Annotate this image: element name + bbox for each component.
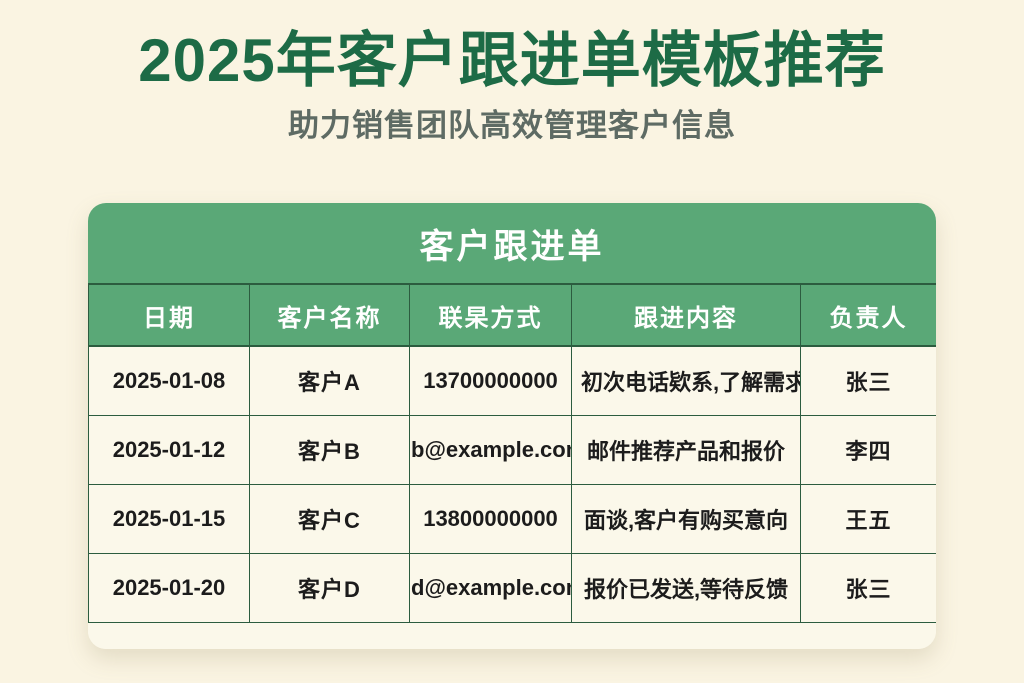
page-title: 2025年客户跟进单模板推荐 [0,26,1024,97]
column-header-contact: 联杲方式 [410,284,572,346]
cell-contact: 13800000000 [410,485,572,554]
followup-table: 日期 客户名称 联杲方式 跟进内容 负责人 2025-01-08客户A13700… [88,283,936,623]
table-header-row: 日期 客户名称 联杲方式 跟进内容 负责人 [89,284,937,346]
cell-date: 2025-01-15 [89,485,250,554]
cell-owner: 李四 [801,416,937,485]
page-subtitle: 助力销售团队高效管理客户信息 [0,107,1024,144]
table-header: 日期 客户名称 联杲方式 跟进内容 负责人 [89,284,937,346]
card-title: 客户跟进单 [420,219,605,268]
column-header-note: 跟进内容 [572,284,801,346]
column-header-date: 日期 [89,284,250,346]
cell-contact: d@example.com [410,554,572,623]
cell-note: 邮件推荐产品和报价 [572,416,801,485]
followup-card-wrapper: 客户跟进单 日期 客户名称 联杲方式 跟进内容 负责人 2025-01-08客户… [88,203,936,649]
cell-name: 客户B [250,416,410,485]
table-row: 2025-01-20客户Dd@example.com报价已发送,等待反馈张三 [89,554,937,623]
card-footer [88,623,936,649]
note-text: 报价已发送,等待反馈 [573,572,799,604]
cell-date: 2025-01-12 [89,416,250,485]
cell-name: 客户A [250,346,410,416]
table-row: 2025-01-08客户A13700000000初次电话欵系,了解需求张三 [89,346,937,416]
page-header: 2025年客户跟进单模板推荐 助力销售团队高效管理客户信息 [0,0,1024,144]
cell-name: 客户C [250,485,410,554]
cell-date: 2025-01-08 [89,346,250,416]
table-row: 2025-01-15客户C13800000000面谈,客户有购买意向王五 [89,485,937,554]
cell-note: 报价已发送,等待反馈 [572,554,801,623]
cell-note: 面谈,客户有购买意向 [572,485,801,554]
note-text: 邮件推荐产品和报价 [573,434,799,466]
cell-note: 初次电话欵系,了解需求 [572,346,801,416]
note-text: 初次电话欵系,了解需求 [573,365,801,397]
column-header-owner: 负责人 [801,284,937,346]
followup-card: 客户跟进单 日期 客户名称 联杲方式 跟进内容 负责人 2025-01-08客户… [88,203,936,649]
table-body: 2025-01-08客户A13700000000初次电话欵系,了解需求张三202… [89,346,937,623]
note-text: 面谈,客户有购买意向 [573,503,799,535]
card-title-bar: 客户跟进单 [88,203,936,283]
cell-name: 客户D [250,554,410,623]
cell-owner: 张三 [801,346,937,416]
cell-owner: 张三 [801,554,937,623]
cell-owner: 王五 [801,485,937,554]
cell-date: 2025-01-20 [89,554,250,623]
cell-contact: 13700000000 [410,346,572,416]
cell-contact: b@example.com [410,416,572,485]
table-row: 2025-01-12客户Bb@example.com邮件推荐产品和报价李四 [89,416,937,485]
column-header-name: 客户名称 [250,284,410,346]
